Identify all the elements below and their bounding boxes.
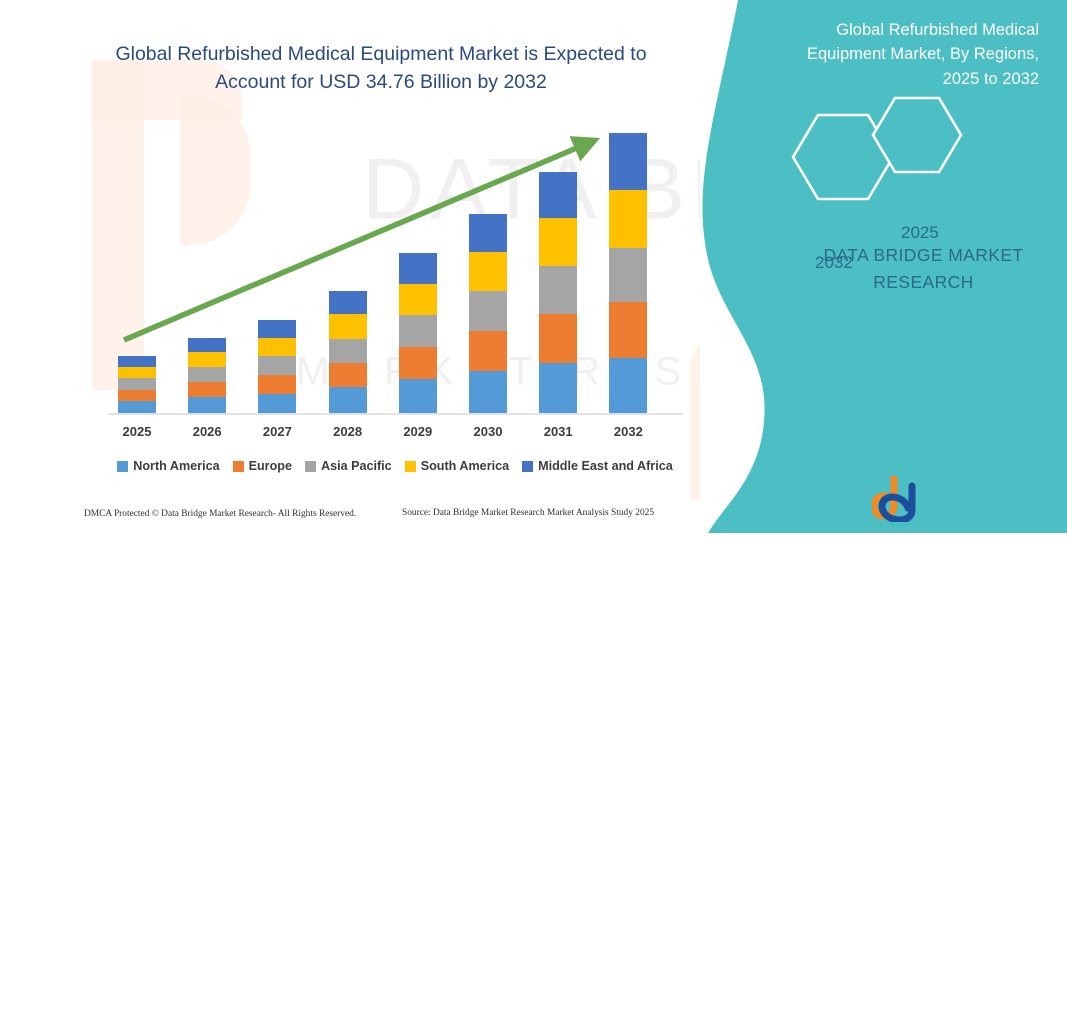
legend-item: Middle East and Africa (522, 459, 673, 473)
hexagon-label-2025: 2025 (901, 223, 939, 243)
x-axis-line (108, 413, 683, 415)
x-tick-2032: 2032 (609, 424, 647, 439)
legend-item: Europe (233, 459, 292, 473)
x-tick-2028: 2028 (329, 424, 367, 439)
x-tick-2031: 2031 (539, 424, 577, 439)
legend-item: Asia Pacific (305, 459, 392, 473)
data-bridge-logo: DATA BRIDGE MARKET RESEARCH (872, 476, 1047, 522)
legend-swatch-icon (117, 461, 128, 472)
legend-swatch-icon (233, 461, 244, 472)
legend-label: Europe (249, 459, 292, 473)
x-tick-2030: 2030 (469, 424, 507, 439)
hexagon-2025 (873, 98, 961, 172)
chart-legend: North AmericaEuropeAsia PacificSouth Ame… (0, 459, 790, 473)
hexagon-group: 2025 2032 (760, 95, 1060, 220)
brand-name-text: DATA BRIDGE MARKET RESEARCH (700, 242, 1067, 296)
legend-item: South America (405, 459, 509, 473)
footer-copyright: DMCA Protected © Data Bridge Market Rese… (84, 509, 356, 519)
legend-label: Middle East and Africa (538, 459, 673, 473)
x-tick-2025: 2025 (118, 424, 156, 439)
legend-swatch-icon (405, 461, 416, 472)
growth-arrow-icon (0, 0, 790, 533)
regions-panel: Global Refurbished Medical Equipment Mar… (700, 0, 1067, 533)
x-tick-2027: 2027 (258, 424, 296, 439)
x-tick-2029: 2029 (399, 424, 437, 439)
data-bridge-mark-icon (872, 476, 934, 522)
chart-panel: DATA BRIDGE MARKET RESEARCH Global Refur… (0, 0, 790, 533)
legend-item: North America (117, 459, 219, 473)
footer-source: Source: Data Bridge Market Research Mark… (402, 508, 654, 518)
regions-panel-heading: Global Refurbished Medical Equipment Mar… (774, 18, 1039, 91)
legend-label: Asia Pacific (321, 459, 392, 473)
x-axis-labels: 20252026202720282029203020312032 (118, 424, 670, 446)
legend-label: North America (133, 459, 219, 473)
legend-swatch-icon (522, 461, 533, 472)
legend-label: South America (421, 459, 509, 473)
x-tick-2026: 2026 (188, 424, 226, 439)
legend-swatch-icon (305, 461, 316, 472)
